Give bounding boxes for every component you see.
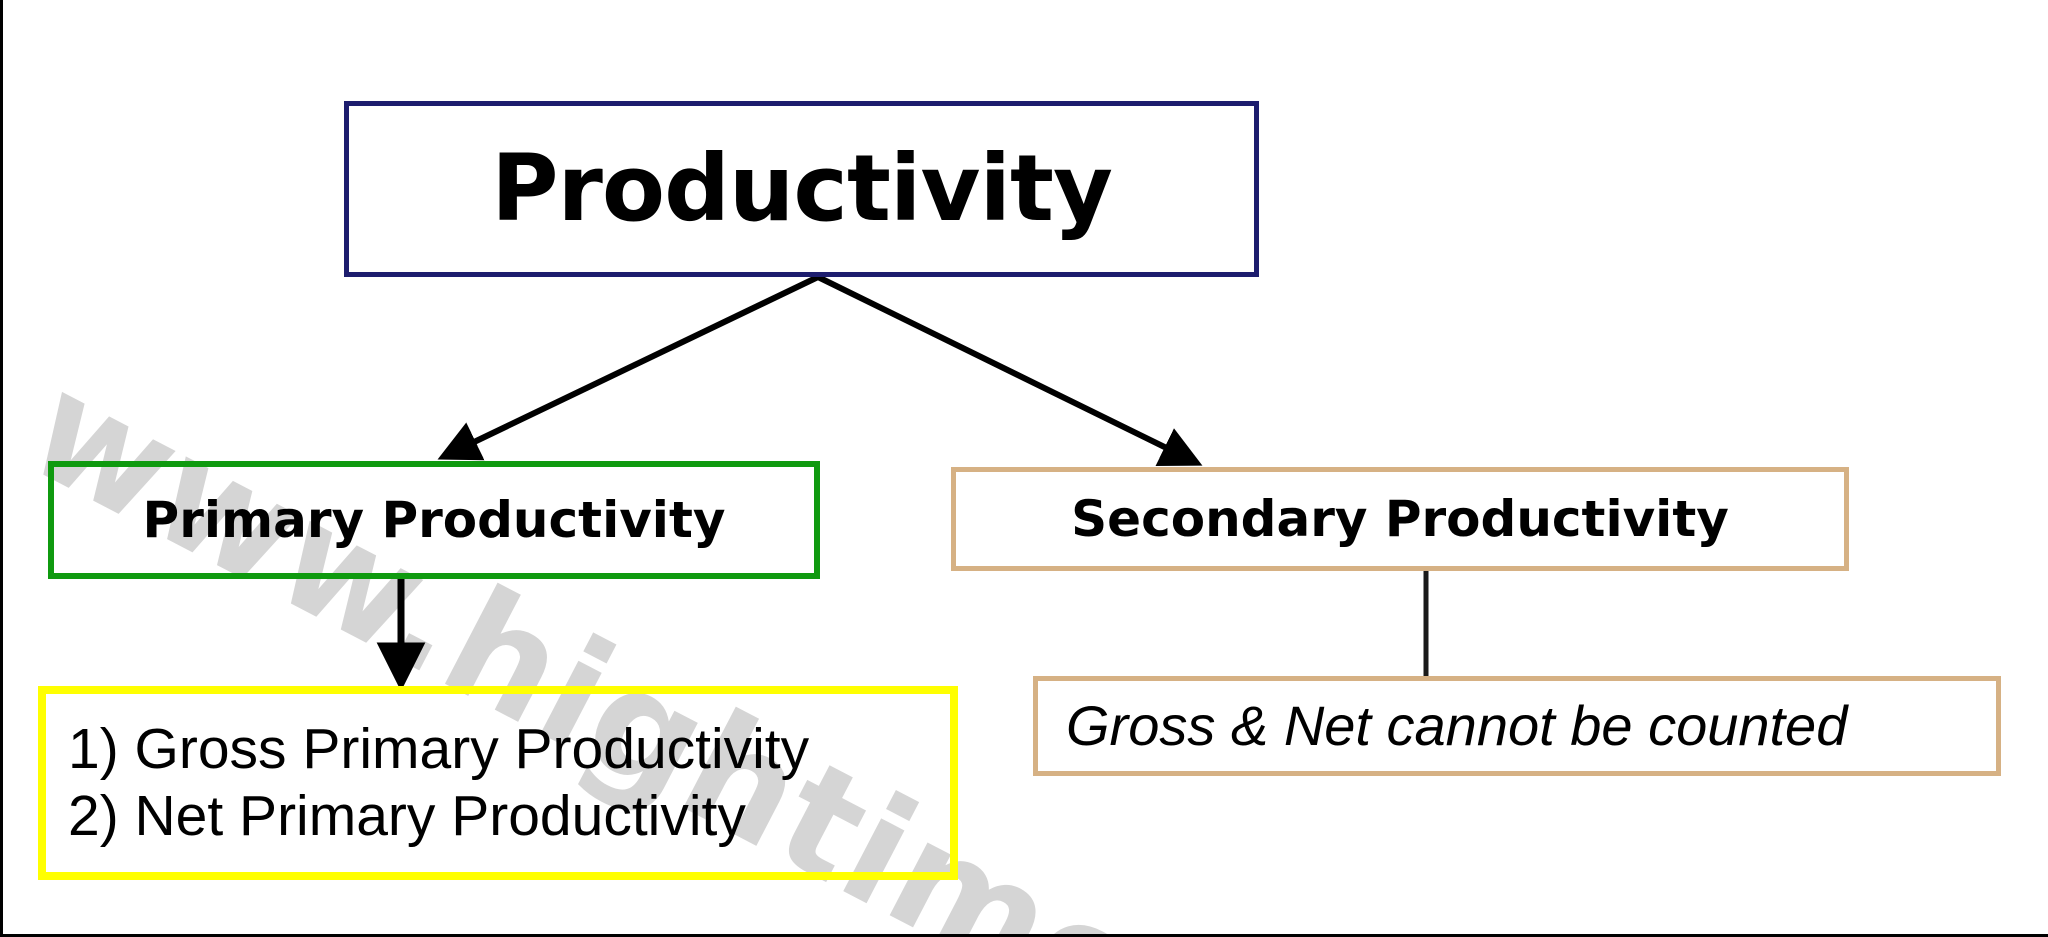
connector-productivity-to-primary [447,277,818,455]
node-secondary-productivity[interactable]: Secondary Productivity [951,467,1849,571]
connector-productivity-to-secondary [818,277,1193,461]
node-secondary-productivity-note-label: Gross & Net cannot be counted [1066,698,1847,754]
node-productivity-label: Productivity [491,143,1112,235]
node-secondary-productivity-note[interactable]: Gross & Net cannot be counted [1033,676,2001,776]
node-primary-productivity[interactable]: Primary Productivity [48,461,820,579]
node-primary-productivity-label: Primary Productivity [143,495,726,545]
node-secondary-productivity-label: Secondary Productivity [1071,494,1729,544]
diagram-canvas: www.hightimestudy.com Productivity Prima… [0,0,2048,937]
node-productivity[interactable]: Productivity [344,101,1259,277]
node-primary-productivity-types[interactable]: 1) Gross Primary Productivity 2) Net Pri… [38,686,958,880]
list-item: 2) Net Primary Productivity [68,783,746,850]
list-item: 1) Gross Primary Productivity [68,716,809,783]
